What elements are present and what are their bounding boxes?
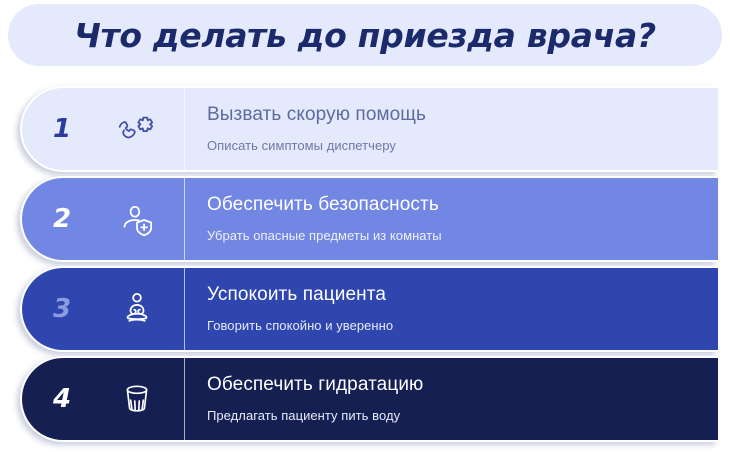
page-title: Что делать до приезда врача? xyxy=(74,16,656,55)
step-subtitle: Предлагать пациенту пить воду xyxy=(207,408,718,424)
meditation-lotus-icon xyxy=(102,289,172,329)
step-divider xyxy=(184,358,185,440)
step-title: Обеспечить гидратацию xyxy=(207,374,718,396)
step-divider xyxy=(184,268,185,350)
step-subtitle: Убрать опасные предметы из комнаты xyxy=(207,228,718,244)
step-body: Успокоить пациента Говорить спокойно и у… xyxy=(185,268,718,350)
step-row[interactable]: 2 Обеспечить безопасность Убрать опасные… xyxy=(20,176,718,262)
infographic-root: Что делать до приезда врача? 1 Вызвать с… xyxy=(0,0,730,455)
step-body: Обеспечить гидратацию Предлагать пациент… xyxy=(185,358,718,440)
step-divider xyxy=(184,88,185,170)
step-left-panel: 1 xyxy=(22,88,184,170)
step-left-panel: 4 xyxy=(22,358,184,440)
step-title: Успокоить пациента xyxy=(207,284,718,306)
step-number: 2 xyxy=(22,204,102,234)
step-title: Обеспечить безопасность xyxy=(207,194,718,216)
step-body: Вызвать скорую помощь Описать симптомы д… xyxy=(185,88,718,170)
steps-list: 1 Вызвать скорую помощь Описать симптомы… xyxy=(0,86,730,455)
step-body: Обеспечить безопасность Убрать опасные п… xyxy=(185,178,718,260)
step-left-panel: 3 xyxy=(22,268,184,350)
step-title: Вызвать скорую помощь xyxy=(207,104,718,126)
step-row[interactable]: 3 Успокоить пациента Говорить спокойно и… xyxy=(20,266,718,352)
step-divider xyxy=(184,178,185,260)
step-number: 3 xyxy=(22,294,102,324)
step-subtitle: Описать симптомы диспетчеру xyxy=(207,138,718,154)
phone-medical-cross-icon xyxy=(102,109,172,149)
step-number: 4 xyxy=(22,384,102,414)
step-left-panel: 2 xyxy=(22,178,184,260)
step-row[interactable]: 1 Вызвать скорую помощь Описать симптомы… xyxy=(20,86,718,172)
step-number: 1 xyxy=(22,114,102,144)
person-shield-plus-icon xyxy=(102,199,172,239)
title-banner: Что делать до приезда врача? xyxy=(8,4,722,66)
drinking-glass-icon xyxy=(102,379,172,419)
step-row[interactable]: 4 Обеспечить гидратацию Предлагать пацие… xyxy=(20,356,718,442)
step-subtitle: Говорить спокойно и уверенно xyxy=(207,318,718,334)
